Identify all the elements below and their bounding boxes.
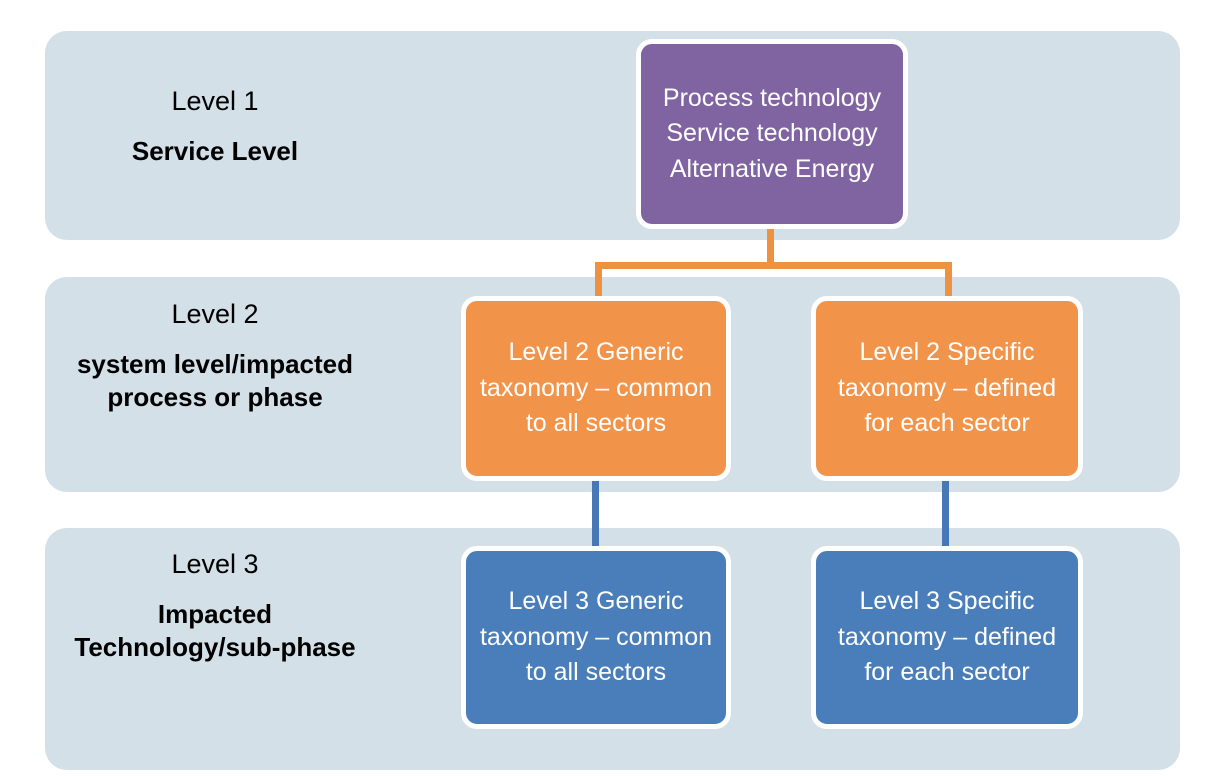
connector-root-horizontal-bar — [595, 262, 952, 269]
taxonomy-hierarchy-diagram: Level 1 Service Level Level 2 system lev… — [0, 0, 1227, 776]
level-2-label: Level 2 — [60, 298, 370, 332]
root-line-3: Alternative Energy — [651, 152, 893, 188]
node-level3-specific-taxonomy[interactable]: Level 3 Specific taxonomy – defined for … — [811, 546, 1083, 729]
node-level3-specific-label: Level 3 Specific taxonomy – defined for … — [816, 584, 1078, 691]
node-level2-specific-label: Level 2 Specific taxonomy – defined for … — [816, 335, 1078, 442]
node-level3-generic-taxonomy[interactable]: Level 3 Generic taxonomy – common to all… — [461, 546, 731, 729]
node-level2-generic-taxonomy[interactable]: Level 2 Generic taxonomy – common to all… — [461, 296, 731, 481]
level-1-description: Service Level — [60, 135, 370, 168]
level-1-caption: Level 1 Service Level — [60, 85, 370, 168]
level-2-description: system level/impacted process or phase — [60, 348, 370, 415]
node-level2-specific-taxonomy[interactable]: Level 2 Specific taxonomy – defined for … — [811, 296, 1083, 481]
root-line-1: Process technology — [651, 81, 893, 117]
node-level3-generic-label: Level 3 Generic taxonomy – common to all… — [466, 584, 726, 691]
node-level2-generic-label: Level 2 Generic taxonomy – common to all… — [466, 335, 726, 442]
level-3-label: Level 3 — [60, 548, 370, 582]
node-root-service-level[interactable]: Process technology Service technology Al… — [636, 39, 908, 229]
level-1-label: Level 1 — [60, 85, 370, 119]
level-2-caption: Level 2 system level/impacted process or… — [60, 298, 370, 414]
connector-level2-specific-to-level3-specific — [942, 470, 949, 556]
level-3-caption: Level 3 Impacted Technology/sub-phase — [60, 548, 370, 664]
root-line-2: Service technology — [651, 116, 893, 152]
connector-level2-generic-to-level3-generic — [592, 470, 599, 556]
level-3-description: Impacted Technology/sub-phase — [60, 598, 370, 665]
